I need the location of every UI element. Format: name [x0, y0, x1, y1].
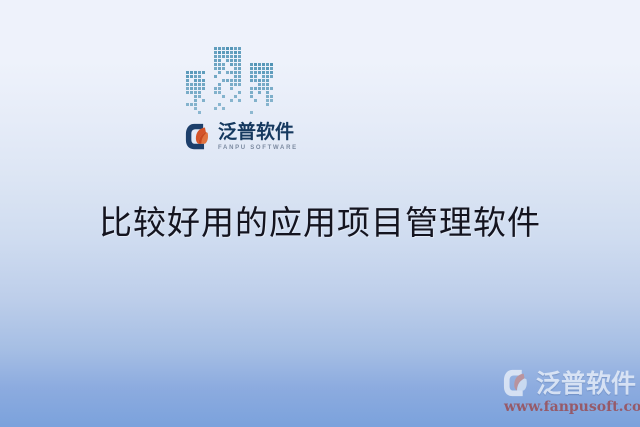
skyline-pixel	[230, 51, 233, 54]
skyline-pixel	[238, 79, 241, 82]
skyline-pixel	[230, 91, 233, 94]
skyline-pixel	[254, 91, 257, 94]
skyline-pixel	[198, 103, 201, 106]
skyline-pixel	[238, 107, 241, 110]
slide-canvas: 泛普软件 FANPU SOFTWARE 比较好用的应用项目管理软件 泛普软件 w…	[0, 0, 640, 427]
skyline-pixel	[234, 95, 237, 98]
skyline-pixel	[270, 87, 273, 90]
skyline-pixel	[226, 103, 229, 106]
skyline-pixel	[218, 91, 221, 94]
skyline-pixel	[198, 83, 201, 86]
skyline-pixel	[234, 107, 237, 110]
skyline-pixel	[226, 59, 229, 62]
skyline-pixel	[218, 115, 221, 118]
skyline-pixel	[262, 99, 265, 102]
skyline-pixel	[214, 79, 217, 82]
skyline-pixel	[202, 115, 205, 118]
skyline-pixel	[218, 99, 221, 102]
skyline-pixel	[250, 83, 253, 86]
skyline-right-tower	[250, 63, 277, 122]
skyline-pixel	[218, 87, 221, 90]
skyline-pixel	[238, 103, 241, 106]
skyline-pixel	[222, 83, 225, 86]
skyline-pixel	[190, 115, 193, 118]
skyline-pixel	[266, 71, 269, 74]
skyline-pixel	[234, 47, 237, 50]
skyline-pixel	[218, 83, 221, 86]
skyline-pixel	[258, 99, 261, 102]
skyline-pixel	[258, 63, 261, 66]
skyline-pixel	[222, 47, 225, 50]
skyline-pixel	[222, 71, 225, 74]
skyline-pixel	[194, 103, 197, 106]
skyline-pixel	[214, 51, 217, 54]
skyline-pixel	[250, 107, 253, 110]
skyline-pixel	[226, 91, 229, 94]
skyline-pixel	[194, 91, 197, 94]
skyline-pixel	[226, 47, 229, 50]
skyline-pixel	[202, 99, 205, 102]
skyline-pixel	[194, 111, 197, 114]
skyline-pixel	[230, 83, 233, 86]
skyline-pixel	[234, 79, 237, 82]
skyline-pixel	[230, 107, 233, 110]
skyline-pixel	[230, 115, 233, 118]
skyline-pixel	[198, 107, 201, 110]
skyline-pixel	[230, 99, 233, 102]
skyline-pixel	[222, 75, 225, 78]
skyline-pixel	[218, 71, 221, 74]
skyline-pixel	[198, 111, 201, 114]
skyline-pixel	[222, 103, 225, 106]
skyline-pixel	[218, 111, 221, 114]
skyline-pixel	[266, 67, 269, 70]
skyline-pixel	[238, 99, 241, 102]
skyline-pixel	[250, 91, 253, 94]
skyline-pixel	[258, 111, 261, 114]
skyline-pixel	[230, 75, 233, 78]
skyline-pixel	[198, 99, 201, 102]
skyline-pixel	[258, 115, 261, 118]
skyline-pixel	[262, 111, 265, 114]
skyline-pixel	[230, 67, 233, 70]
skyline-pixel	[226, 67, 229, 70]
skyline-pixel	[254, 111, 257, 114]
brand-logo-english: FANPU SOFTWARE	[218, 145, 298, 151]
skyline-pixel	[254, 63, 257, 66]
skyline-pixel	[230, 71, 233, 74]
skyline-pixel	[250, 63, 253, 66]
skyline-pixel	[270, 83, 273, 86]
skyline-pixel	[214, 103, 217, 106]
skyline-pixel	[226, 79, 229, 82]
skyline-pixel	[258, 87, 261, 90]
skyline-pixel	[190, 75, 193, 78]
skyline-pixel	[190, 95, 193, 98]
skyline-pixel	[218, 95, 221, 98]
skyline-pixel	[218, 55, 221, 58]
skyline-pixel	[266, 91, 269, 94]
skyline-pixel	[218, 67, 221, 70]
skyline-pixel	[214, 71, 217, 74]
skyline-pixel	[218, 75, 221, 78]
skyline-pixel	[262, 79, 265, 82]
skyline-pixel	[202, 83, 205, 86]
skyline-pixel	[254, 83, 257, 86]
skyline-pixel	[226, 95, 229, 98]
skyline-pixel	[238, 91, 241, 94]
skyline-pixel	[266, 75, 269, 78]
skyline-pixel	[226, 99, 229, 102]
skyline-pixel	[258, 67, 261, 70]
skyline-pixel	[258, 71, 261, 74]
skyline-pixel	[270, 99, 273, 102]
skyline-pixel	[218, 103, 221, 106]
skyline-pixel	[266, 111, 269, 114]
skyline-pixel	[214, 67, 217, 70]
skyline-pixel	[186, 87, 189, 90]
skyline-pixel	[198, 95, 201, 98]
skyline-pixel	[194, 87, 197, 90]
skyline-pixel	[270, 95, 273, 98]
skyline-pixel	[258, 95, 261, 98]
skyline-pixel	[226, 71, 229, 74]
skyline-pixel	[214, 55, 217, 58]
skyline-pixel	[226, 87, 229, 90]
skyline-pixel	[198, 115, 201, 118]
skyline-pixel	[214, 91, 217, 94]
skyline-pixel	[214, 83, 217, 86]
skyline-pixel	[250, 115, 253, 118]
skyline-pixel	[262, 107, 265, 110]
skyline-pixel	[250, 95, 253, 98]
skyline-pixel	[222, 107, 225, 110]
skyline-pixel	[238, 95, 241, 98]
skyline-pixel	[222, 55, 225, 58]
skyline-left-tower	[186, 71, 209, 122]
skyline-pixel	[214, 59, 217, 62]
skyline-pixel	[234, 99, 237, 102]
skyline-pixel	[222, 91, 225, 94]
skyline-pixel	[222, 79, 225, 82]
skyline-pixel	[230, 103, 233, 106]
skyline-pixel	[202, 95, 205, 98]
skyline-pixel	[214, 111, 217, 114]
skyline-pixel	[190, 91, 193, 94]
skyline-pixel	[262, 67, 265, 70]
skyline-pixel	[250, 71, 253, 74]
skyline-pixel	[270, 71, 273, 74]
skyline-pixel	[194, 79, 197, 82]
skyline-pixel	[198, 71, 201, 74]
skyline-pixel	[254, 75, 257, 78]
skyline-pixel	[218, 47, 221, 50]
skyline-pixel	[202, 87, 205, 90]
skyline-pixel	[234, 87, 237, 90]
watermark-chinese-name: 泛普软件	[536, 371, 636, 396]
brand-logo-chinese: 泛普软件	[218, 123, 298, 142]
skyline-pixel	[254, 115, 257, 118]
skyline-pixel	[226, 51, 229, 54]
skyline-pixel	[234, 83, 237, 86]
skyline-pixel	[258, 75, 261, 78]
skyline-pixel	[222, 111, 225, 114]
skyline-pixel	[270, 115, 273, 118]
skyline-pixel	[222, 59, 225, 62]
skyline-pixel	[262, 91, 265, 94]
skyline-pixel	[226, 75, 229, 78]
skyline-pixel	[234, 67, 237, 70]
skyline-pixel	[190, 107, 193, 110]
skyline-center-tower	[214, 47, 245, 122]
skyline-pixel	[190, 103, 193, 106]
skyline-pixel	[238, 51, 241, 54]
skyline-pixel	[218, 79, 221, 82]
skyline-pixel	[194, 95, 197, 98]
skyline-pixel	[230, 55, 233, 58]
skyline-pixel	[234, 91, 237, 94]
watermark-fanpu-logo-mark-icon	[503, 368, 533, 398]
watermark-logo-row: 泛普软件	[503, 368, 637, 398]
skyline-pixel	[202, 71, 205, 74]
skyline-pixel	[238, 75, 241, 78]
skyline-pixel	[230, 95, 233, 98]
skyline-pixel	[270, 111, 273, 114]
skyline-pixel	[266, 63, 269, 66]
skyline-pixel	[186, 83, 189, 86]
skyline-pixel	[218, 51, 221, 54]
skyline-pixel	[230, 59, 233, 62]
skyline-pixel	[234, 103, 237, 106]
skyline-pixel	[222, 51, 225, 54]
skyline-pixel	[250, 99, 253, 102]
skyline-pixel	[238, 115, 241, 118]
skyline-pixel	[194, 75, 197, 78]
skyline-pixel	[230, 63, 233, 66]
skyline-pixel	[226, 63, 229, 66]
skyline-pixel	[238, 47, 241, 50]
skyline-pixel	[190, 79, 193, 82]
skyline-pixel	[254, 67, 257, 70]
skyline-pixel	[230, 87, 233, 90]
skyline-pixel	[254, 107, 257, 110]
skyline-pixel	[194, 83, 197, 86]
skyline-pixel	[186, 71, 189, 74]
skyline-pixel	[266, 115, 269, 118]
skyline-pixel	[186, 95, 189, 98]
skyline-pixel	[254, 95, 257, 98]
skyline-pixel	[222, 115, 225, 118]
skyline-pixel	[222, 67, 225, 70]
skyline-pixel	[214, 47, 217, 50]
skyline-pixel	[222, 63, 225, 66]
skyline-pixel	[258, 107, 261, 110]
skyline-pixel	[218, 59, 221, 62]
skyline-pixel	[262, 95, 265, 98]
skyline-pixel	[202, 103, 205, 106]
skyline-pixel	[214, 95, 217, 98]
skyline-pixel	[234, 111, 237, 114]
skyline-pixel	[258, 91, 261, 94]
skyline-pixel	[270, 103, 273, 106]
skyline-pixel	[222, 95, 225, 98]
skyline-pixel	[226, 107, 229, 110]
skyline-pixel	[222, 99, 225, 102]
skyline-pixel	[262, 71, 265, 74]
skyline-pixel	[198, 91, 201, 94]
skyline-pixel	[266, 103, 269, 106]
corner-watermark: 泛普软件 www.fanpusoft.com	[503, 368, 637, 420]
skyline-pixel	[254, 99, 257, 102]
skyline-pixel	[202, 111, 205, 114]
skyline-pixel	[234, 55, 237, 58]
skyline-pixel	[238, 55, 241, 58]
skyline-pixel	[250, 111, 253, 114]
brand-logo: 泛普软件 FANPU SOFTWARE	[185, 122, 298, 151]
skyline-pixel	[262, 115, 265, 118]
skyline-pixel	[190, 111, 193, 114]
skyline-pixel	[250, 67, 253, 70]
skyline-pixel	[266, 99, 269, 102]
skyline-pixel	[186, 111, 189, 114]
skyline-pixel	[194, 107, 197, 110]
skyline-pixel	[270, 63, 273, 66]
skyline-pixel	[202, 75, 205, 78]
skyline-pixel	[238, 59, 241, 62]
skyline-pixel	[254, 103, 257, 106]
skyline-pixel	[230, 47, 233, 50]
skyline-pixel	[198, 87, 201, 90]
skyline-pixel	[214, 99, 217, 102]
skyline-pixel	[190, 71, 193, 74]
slide-headline: 比较好用的应用项目管理软件	[0, 196, 640, 244]
skyline-pixel	[186, 79, 189, 82]
skyline-pixel	[222, 87, 225, 90]
skyline-pixel	[262, 87, 265, 90]
skyline-pixel	[214, 87, 217, 90]
skyline-pixel	[258, 79, 261, 82]
skyline-pixel	[238, 63, 241, 66]
skyline-pixel	[266, 87, 269, 90]
skyline-pixel	[190, 83, 193, 86]
skyline-pixel	[186, 115, 189, 118]
skyline-pixel	[198, 79, 201, 82]
skyline-pixel	[230, 111, 233, 114]
skyline-pixel	[218, 63, 221, 66]
skyline-pixel	[226, 55, 229, 58]
skyline-pixel	[202, 91, 205, 94]
skyline-pixel	[266, 83, 269, 86]
skyline-pixel	[266, 107, 269, 110]
skyline-pixel	[226, 115, 229, 118]
skyline-pixel	[258, 83, 261, 86]
skyline-pixel	[198, 75, 201, 78]
skyline-pixel	[238, 71, 241, 74]
skyline-pixel	[214, 107, 217, 110]
skyline-pixel	[270, 67, 273, 70]
skyline-pixel	[258, 103, 261, 106]
skyline-pixel	[230, 79, 233, 82]
skyline-pixel	[234, 71, 237, 74]
skyline-pixel	[262, 75, 265, 78]
skyline-pixel	[254, 87, 257, 90]
fanpu-logo-mark-icon	[185, 122, 214, 151]
skyline-pixel	[234, 51, 237, 54]
skyline-pixel	[262, 63, 265, 66]
watermark-url: www.fanpusoft.com	[504, 399, 637, 415]
skyline-pixel	[214, 115, 217, 118]
pixel-city-skyline	[186, 44, 284, 122]
skyline-pixel	[190, 87, 193, 90]
skyline-pixel	[202, 107, 205, 110]
skyline-pixel	[214, 63, 217, 66]
skyline-pixel	[186, 107, 189, 110]
skyline-pixel	[234, 59, 237, 62]
skyline-pixel	[266, 95, 269, 98]
skyline-pixel	[254, 79, 257, 82]
skyline-pixel	[194, 71, 197, 74]
skyline-pixel	[214, 75, 217, 78]
skyline-pixel	[262, 103, 265, 106]
skyline-pixel	[238, 87, 241, 90]
skyline-pixel	[186, 99, 189, 102]
skyline-pixel	[186, 103, 189, 106]
skyline-pixel	[226, 83, 229, 86]
skyline-pixel	[250, 75, 253, 78]
skyline-pixel	[202, 79, 205, 82]
skyline-pixel	[270, 91, 273, 94]
skyline-pixel	[238, 67, 241, 70]
skyline-pixel	[194, 115, 197, 118]
skyline-pixel	[262, 83, 265, 86]
skyline-pixel	[218, 107, 221, 110]
skyline-pixel	[270, 79, 273, 82]
skyline-pixel	[226, 111, 229, 114]
skyline-pixel	[250, 103, 253, 106]
skyline-pixel	[190, 99, 193, 102]
skyline-pixel	[186, 91, 189, 94]
skyline-pixel	[270, 107, 273, 110]
skyline-pixel	[238, 83, 241, 86]
skyline-pixel	[254, 71, 257, 74]
skyline-pixel	[234, 75, 237, 78]
skyline-pixel	[234, 115, 237, 118]
brand-logo-wordmark: 泛普软件 FANPU SOFTWARE	[218, 123, 298, 151]
skyline-pixel	[194, 99, 197, 102]
skyline-pixel	[234, 63, 237, 66]
skyline-pixel	[250, 87, 253, 90]
skyline-pixel	[238, 111, 241, 114]
skyline-pixel	[270, 75, 273, 78]
skyline-pixel	[250, 79, 253, 82]
skyline-pixel	[266, 79, 269, 82]
skyline-pixel	[186, 75, 189, 78]
